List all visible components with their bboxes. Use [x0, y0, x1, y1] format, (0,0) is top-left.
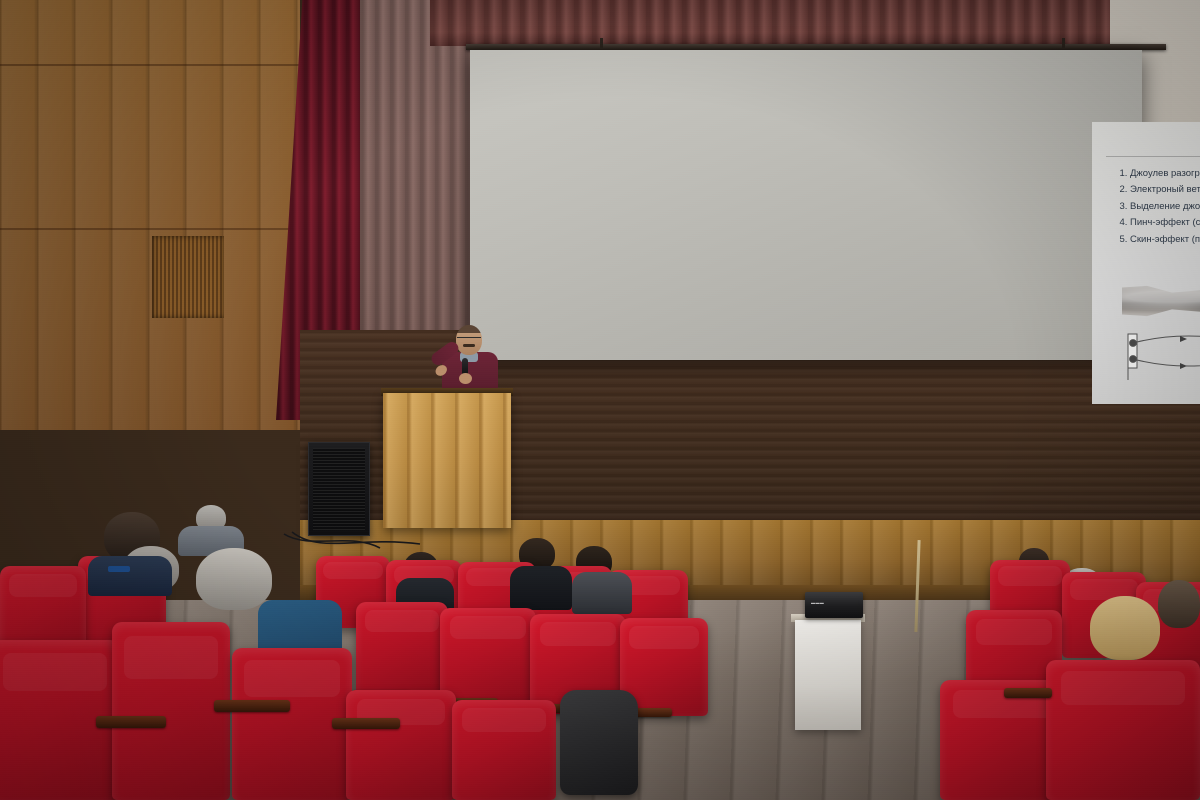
projector-pedestal — [795, 620, 861, 730]
seat — [440, 608, 536, 706]
projection-screen: Как это работает? Джоулев разогрев повыш… — [470, 50, 1142, 360]
speaker-grille — [313, 448, 365, 530]
current-flow-diagram — [1120, 328, 1200, 382]
wall-vent-grille — [152, 236, 224, 318]
list-item: Скин-эффект (переменный ток течет по пов… — [1130, 232, 1200, 247]
seat — [346, 690, 456, 800]
seat — [356, 602, 448, 696]
list-item: Джоулев разогрев повышает пластичность — [1130, 166, 1200, 181]
wood-panelled-wall — [0, 0, 300, 430]
lanyard — [108, 566, 130, 572]
slide-title: Как это работает? — [1092, 130, 1200, 148]
attendee-shoulder — [510, 566, 572, 610]
wooden-podium — [383, 393, 511, 528]
attendee-head — [1158, 580, 1200, 628]
presenter-mic-hand — [459, 373, 472, 384]
seat-armrest — [1004, 688, 1052, 698]
curtain-valance — [430, 0, 1190, 46]
slide-title-rule — [1106, 156, 1200, 157]
seat-armrest — [214, 700, 290, 712]
backpack — [560, 690, 638, 795]
attendee-shoulder — [572, 572, 632, 614]
attendee-head — [196, 548, 272, 610]
attendee-shoulder — [88, 556, 172, 596]
attendee-head — [1090, 596, 1160, 660]
glasses-icon — [457, 337, 481, 342]
seat-armrest — [332, 718, 400, 729]
deformed-metal-specimen-photo — [1122, 280, 1200, 322]
conference-hall-photo: Как это работает? Джоулев разогрев повыш… — [0, 0, 1200, 800]
seat — [112, 622, 230, 800]
list-item: Электроный ветер движет дислокации — [1130, 182, 1200, 197]
slide-bullet-list: Джоулев разогрев повышает пластичность Э… — [1112, 166, 1200, 248]
presentation-slide: Как это работает? Джоулев разогрев повыш… — [1092, 122, 1200, 404]
rail-hook — [600, 38, 603, 48]
pa-loudspeaker — [308, 442, 370, 536]
seat — [452, 700, 556, 800]
seat — [1046, 660, 1200, 800]
presenter-moustache — [463, 344, 475, 347]
projector-brand-label: ▬▬▬ — [811, 600, 824, 605]
projector-unit: ▬▬▬ — [805, 592, 863, 618]
list-item: Пинч-эффект (слабый эффект) — [1130, 215, 1200, 230]
rail-hook — [1062, 38, 1065, 48]
seat-armrest — [96, 716, 166, 728]
list-item: Выделение джоулева тепла преимущественно… — [1130, 199, 1200, 214]
stage-cables — [280, 530, 430, 556]
